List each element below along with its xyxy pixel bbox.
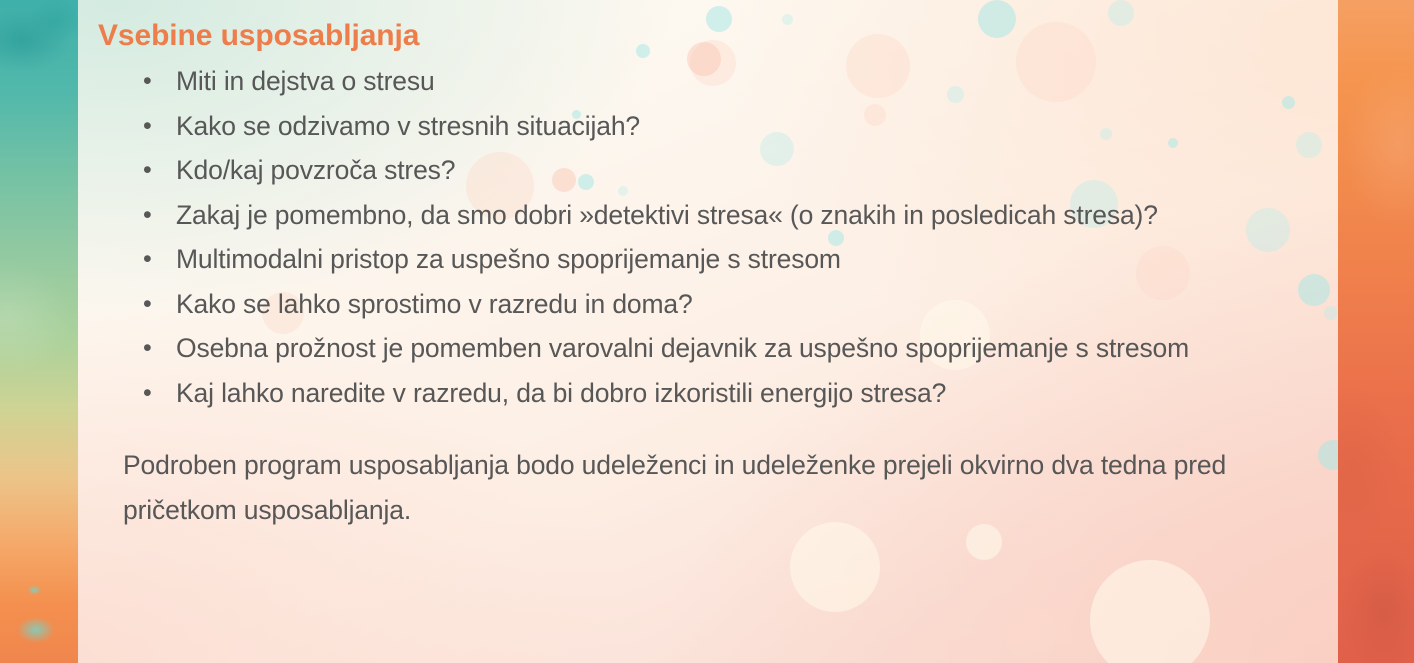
training-topics-list: Miti in dejstva o stresu Kako se odzivam…: [98, 59, 1330, 415]
list-item: Kaj lahko naredite v razredu, da bi dobr…: [98, 371, 1330, 416]
list-item: Zakaj je pomembno, da smo dobri »detekti…: [98, 193, 1330, 238]
right-decorative-band: [1338, 0, 1414, 663]
left-decorative-band: [0, 0, 78, 663]
list-item: Miti in dejstva o stresu: [98, 59, 1330, 104]
slide-canvas: Vsebine usposabljanja Miti in dejstva o …: [0, 0, 1414, 663]
list-item: Multimodalni pristop za uspešno spoprije…: [98, 237, 1330, 282]
list-item: Kdo/kaj povzroča stres?: [98, 148, 1330, 193]
list-item: Osebna prožnost je pomemben varovalni de…: [98, 326, 1330, 371]
slide-content: Vsebine usposabljanja Miti in dejstva o …: [78, 0, 1338, 663]
closing-paragraph: Podroben program usposabljanja bodo udel…: [98, 443, 1330, 532]
page-title: Vsebine usposabljanja: [98, 18, 1330, 54]
list-item: Kako se odzivamo v stresnih situacijah?: [98, 104, 1330, 149]
list-item: Kako se lahko sprostimo v razredu in dom…: [98, 282, 1330, 327]
